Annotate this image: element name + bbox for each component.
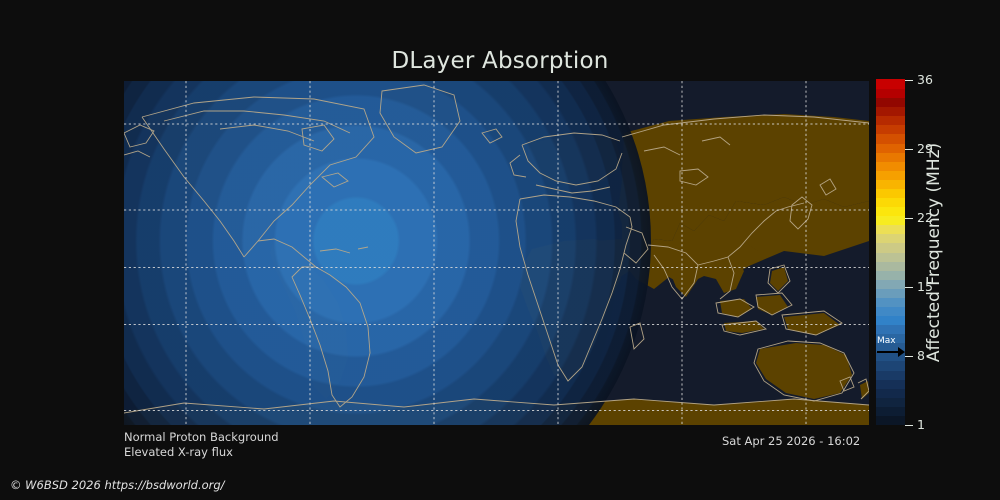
absorption-contours [124, 81, 651, 425]
right-arrow-head-icon [898, 347, 905, 357]
colorbar-band [876, 197, 905, 207]
colorbar-tick [905, 80, 913, 81]
colorbar-band [876, 170, 905, 180]
colorbar-band [876, 225, 905, 235]
colorbar-axis-label: Affected Frequency (MHz) [920, 80, 949, 425]
colorbar-band [876, 270, 905, 280]
colorbar-band [876, 397, 905, 407]
colorbar-band [876, 207, 905, 217]
colorbar-band [876, 279, 905, 289]
colorbar-tick [905, 218, 913, 219]
colorbar-band [876, 216, 905, 226]
colorbar-band [876, 89, 905, 99]
colorbar-band [876, 297, 905, 307]
status-note-proton: Normal Proton Background [124, 430, 279, 444]
colorbar-gradient [876, 80, 905, 425]
colorbar-band [876, 98, 905, 108]
colorbar-band [876, 234, 905, 244]
copyright-notice: © W6BSD 2026 https://bsdworld.org/ [10, 478, 225, 492]
colorbar-band [876, 252, 905, 262]
world-map-svg [124, 81, 869, 425]
colorbar-tick [905, 287, 913, 288]
colorbar-tick [905, 356, 913, 357]
colorbar-band [876, 179, 905, 189]
colorbar-band [876, 370, 905, 380]
colorbar-band [876, 288, 905, 298]
colorbar-tick [905, 149, 913, 150]
colorbar-band [876, 107, 905, 117]
status-note-xray: Elevated X-ray flux [124, 445, 233, 459]
colorbar-band [876, 143, 905, 153]
colorbar-band [876, 261, 905, 271]
colorbar-band [876, 379, 905, 389]
colorbar-band [876, 315, 905, 325]
colorbar-band [876, 188, 905, 198]
map-panel[interactable] [124, 81, 869, 425]
colorbar-band [876, 406, 905, 416]
right-arrow-icon [877, 351, 900, 353]
colorbar[interactable]: 1815222936 Max [876, 80, 905, 425]
colorbar-band [876, 79, 905, 89]
colorbar-band [876, 125, 905, 135]
colorbar-band [876, 243, 905, 253]
colorbar-band [876, 415, 905, 425]
colorbar-band [876, 388, 905, 398]
colorbar-tick [905, 425, 913, 426]
timestamp: Sat Apr 25 2026 - 16:02 [722, 434, 860, 448]
colorbar-band [876, 325, 905, 335]
app-root: DLayer Absorption [0, 0, 1000, 500]
max-marker-label: Max [877, 336, 896, 346]
colorbar-band [876, 306, 905, 316]
colorbar-band [876, 161, 905, 171]
colorbar-max-marker: Max [876, 338, 905, 364]
colorbar-band [876, 116, 905, 126]
colorbar-band [876, 134, 905, 144]
colorbar-band [876, 152, 905, 162]
page-title: DLayer Absorption [0, 48, 1000, 74]
